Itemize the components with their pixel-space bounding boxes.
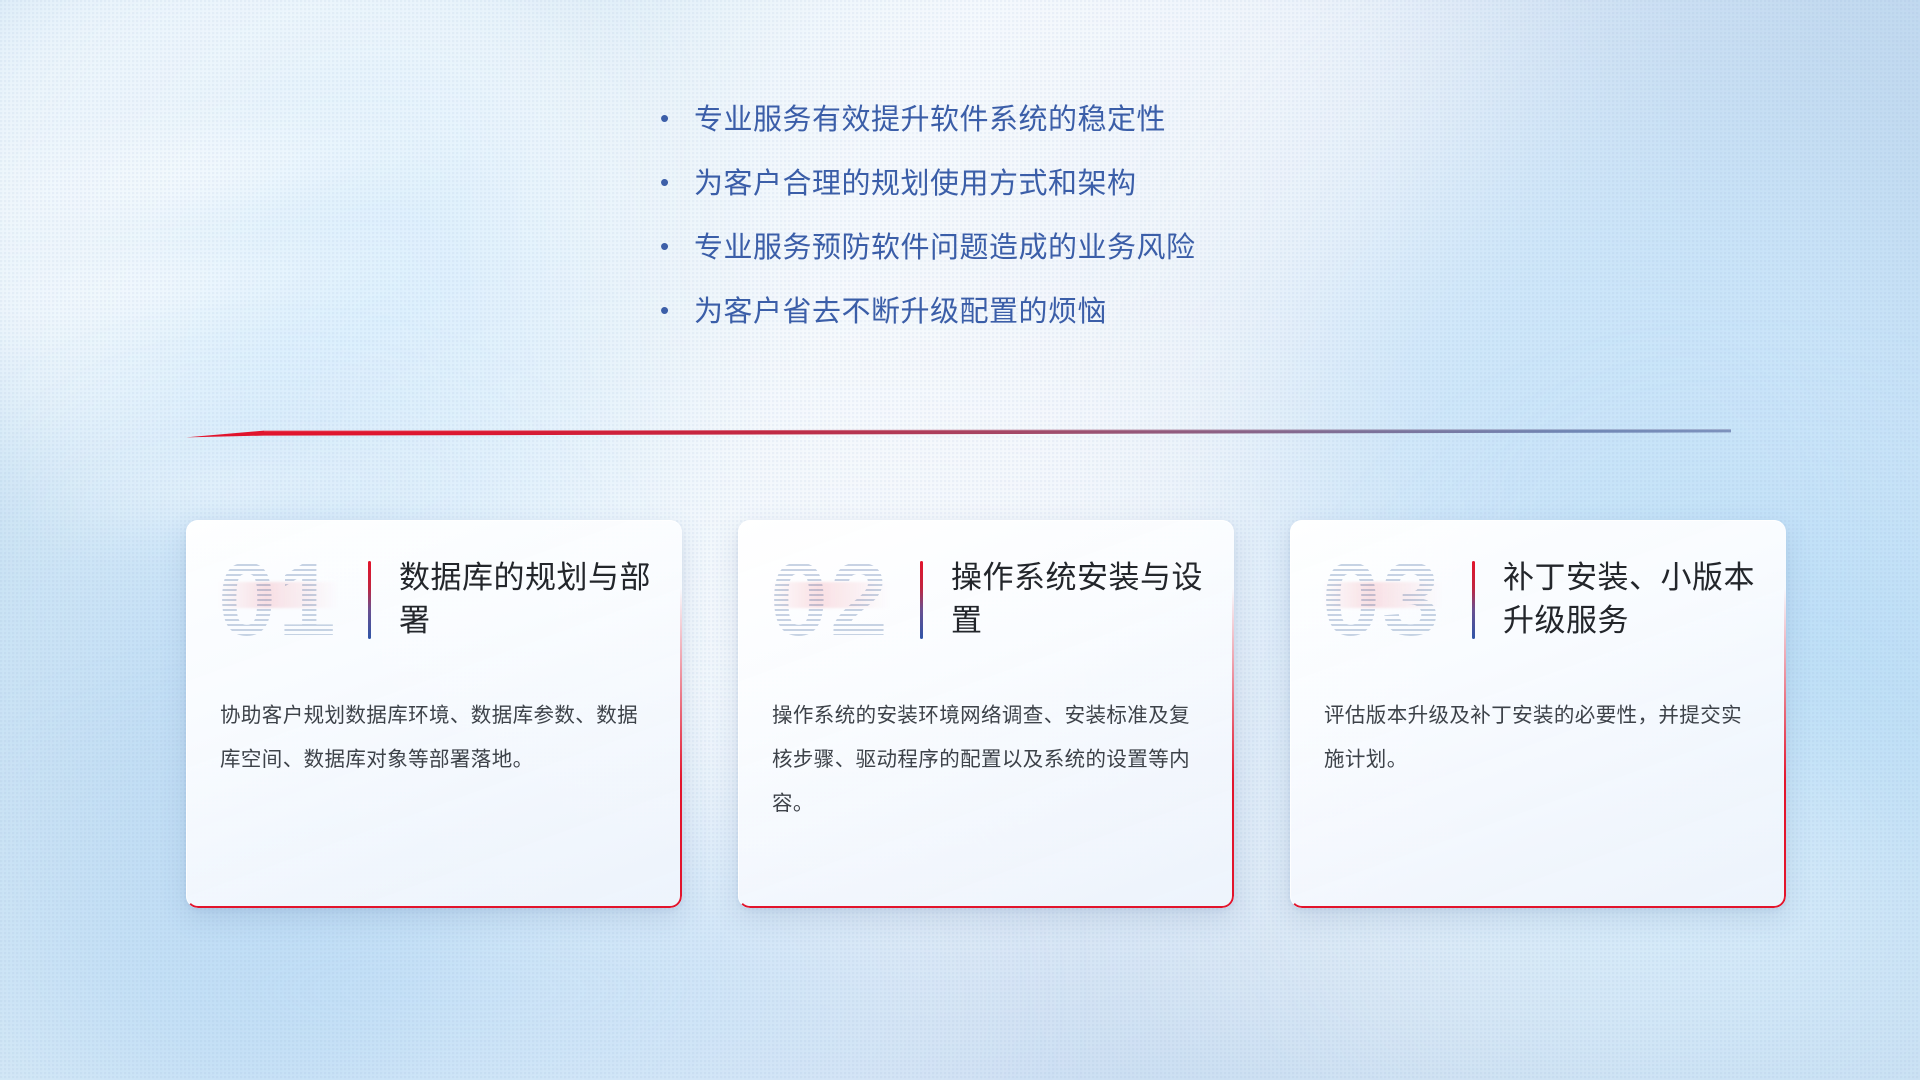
bullet-item: • 为客户省去不断升级配置的烦恼 bbox=[660, 288, 1420, 352]
bullet-dot-icon: • bbox=[660, 105, 694, 131]
bullet-text: 为客户省去不断升级配置的烦恼 bbox=[694, 288, 1107, 330]
card-title-divider-icon bbox=[920, 561, 923, 639]
service-card-list: 01 数据库的规划与部署 协助客户规划数据库环境、数据库参数、数据库空间、数据库… bbox=[186, 520, 1786, 908]
service-card[interactable]: 02 操作系统安装与设置 操作系统的安装环境网络调查、安装标准及复核步骤、驱动程… bbox=[738, 520, 1234, 908]
card-number-badge: 03 bbox=[1316, 544, 1468, 656]
section-divider-rule bbox=[186, 424, 1731, 442]
service-card[interactable]: 01 数据库的规划与部署 协助客户规划数据库环境、数据库参数、数据库空间、数据库… bbox=[186, 520, 682, 908]
card-body-text: 协助客户规划数据库环境、数据库参数、数据库空间、数据库对象等部署落地。 bbox=[186, 694, 682, 782]
bullet-text: 专业服务有效提升软件系统的稳定性 bbox=[694, 96, 1166, 138]
card-title: 操作系统安装与设置 bbox=[951, 557, 1204, 643]
service-card[interactable]: 03 补丁安装、小版本升级服务 评估版本升级及补丁安装的必要性，并提交实施计划。 bbox=[1290, 520, 1786, 908]
card-number: 02 bbox=[764, 544, 916, 656]
card-header: 01 数据库的规划与部署 bbox=[186, 520, 682, 680]
card-body-text: 评估版本升级及补丁安装的必要性，并提交实施计划。 bbox=[1290, 694, 1786, 782]
bullet-dot-icon: • bbox=[660, 169, 694, 195]
card-title: 补丁安装、小版本升级服务 bbox=[1503, 557, 1756, 643]
card-number: 03 bbox=[1316, 544, 1468, 656]
slide-content: • 专业服务有效提升软件系统的稳定性 • 为客户合理的规划使用方式和架构 • 专… bbox=[0, 0, 1920, 1080]
card-number-badge: 01 bbox=[212, 544, 364, 656]
bullet-item: • 专业服务有效提升软件系统的稳定性 bbox=[660, 96, 1420, 160]
card-title-divider-icon bbox=[1472, 561, 1475, 639]
card-body-text: 操作系统的安装环境网络调查、安装标准及复核步骤、驱动程序的配置以及系统的设置等内… bbox=[738, 694, 1234, 826]
bullet-text: 专业服务预防软件问题造成的业务风险 bbox=[694, 224, 1196, 266]
bullet-item: • 为客户合理的规划使用方式和架构 bbox=[660, 160, 1420, 224]
bullet-dot-icon: • bbox=[660, 297, 694, 323]
card-header: 03 补丁安装、小版本升级服务 bbox=[1290, 520, 1786, 680]
bullet-item: • 专业服务预防软件问题造成的业务风险 bbox=[660, 224, 1420, 288]
card-title-divider-icon bbox=[368, 561, 371, 639]
card-header: 02 操作系统安装与设置 bbox=[738, 520, 1234, 680]
bullet-text: 为客户合理的规划使用方式和架构 bbox=[694, 160, 1137, 202]
card-title: 数据库的规划与部署 bbox=[399, 557, 652, 643]
card-number: 01 bbox=[212, 544, 364, 656]
bullet-dot-icon: • bbox=[660, 233, 694, 259]
card-number-badge: 02 bbox=[764, 544, 916, 656]
benefits-bullet-list: • 专业服务有效提升软件系统的稳定性 • 为客户合理的规划使用方式和架构 • 专… bbox=[660, 96, 1420, 352]
